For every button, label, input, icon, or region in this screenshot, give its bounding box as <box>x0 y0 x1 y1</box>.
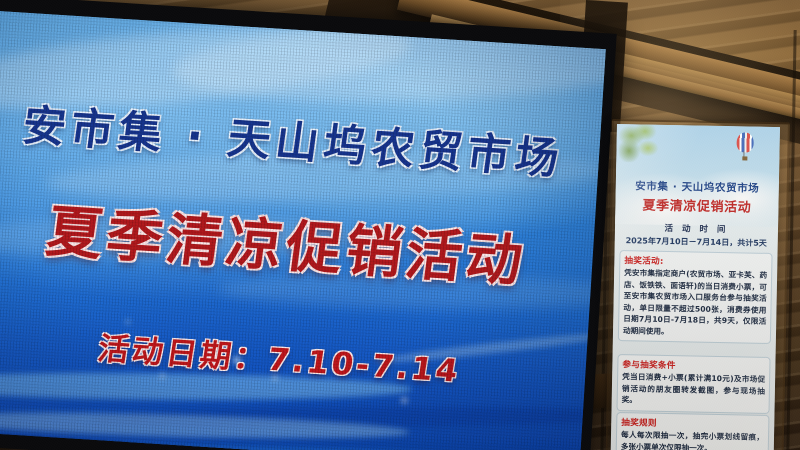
led-title-line1: 安市集 · 天山坞农贸市场 <box>0 89 603 189</box>
poster-header-line1: 安市集 · 天山坞农贸市场 <box>616 178 779 196</box>
led-date-line: 活动日期：7.10-7.14 <box>0 315 589 398</box>
poster-section-entry-conditions: 参与抽奖条件 凭当日消费+小票(累计满10元)及市场促销活动的朋友圈转发截图，参… <box>616 354 770 413</box>
section-body: 每人每次限抽一次，抽完小票划线留痕，多张小票单次仅限抽一次。 <box>621 429 764 450</box>
led-display[interactable]: 安市集 · 天山坞农贸市场 夏季清凉促销活动 活动日期：7.10-7.14 <box>0 0 617 450</box>
led-title-line2: 夏季清凉促销活动 <box>0 183 598 302</box>
promo-poster[interactable]: 安市集 · 天山坞农贸市场 夏季清凉促销活动 活 动 时 间 2025年7月10… <box>611 124 780 450</box>
section-body: 凭当日消费+小票(累计满10元)及市场促销活动的朋友圈转发截图，参与现场抽奖。 <box>622 371 766 408</box>
photo-scene: 安市集 · 天山坞农贸市场 夏季清凉促销活动 活动日期：7.10-7.14 安市… <box>0 0 800 450</box>
hot-air-balloon-icon <box>736 132 754 162</box>
leaf-decoration-icon <box>618 124 661 163</box>
poster-section-lottery-activity: 抽奖活动: 凭安市集指定商户(农贸市场、亚卡芙、药店、饭铁铁、面语轩)的当日消费… <box>618 250 773 344</box>
poster-time-heading: 活 动 时 间 <box>615 221 778 236</box>
led-text-group: 安市集 · 天山坞农贸市场 夏季清凉促销活动 活动日期：7.10-7.14 <box>0 11 606 450</box>
poster-header-line2: 夏季清凉促销活动 <box>615 194 778 216</box>
display-panel: 安市集 · 天山坞农贸市场 夏季清凉促销活动 活动日期：7.10-7.14 <box>0 11 606 450</box>
poster-time-value: 2025年7月10日－7月14日，共计5天 <box>615 235 778 249</box>
poster-section-lottery-rules: 抽奖规则 每人每次限抽一次，抽完小票划线留痕，多张小票单次仅限抽一次。 <box>616 412 770 450</box>
section-body: 凭安市集指定商户(农贸市场、亚卡芙、药店、饭铁铁、面语轩)的当日消费小票，可至安… <box>623 267 767 339</box>
